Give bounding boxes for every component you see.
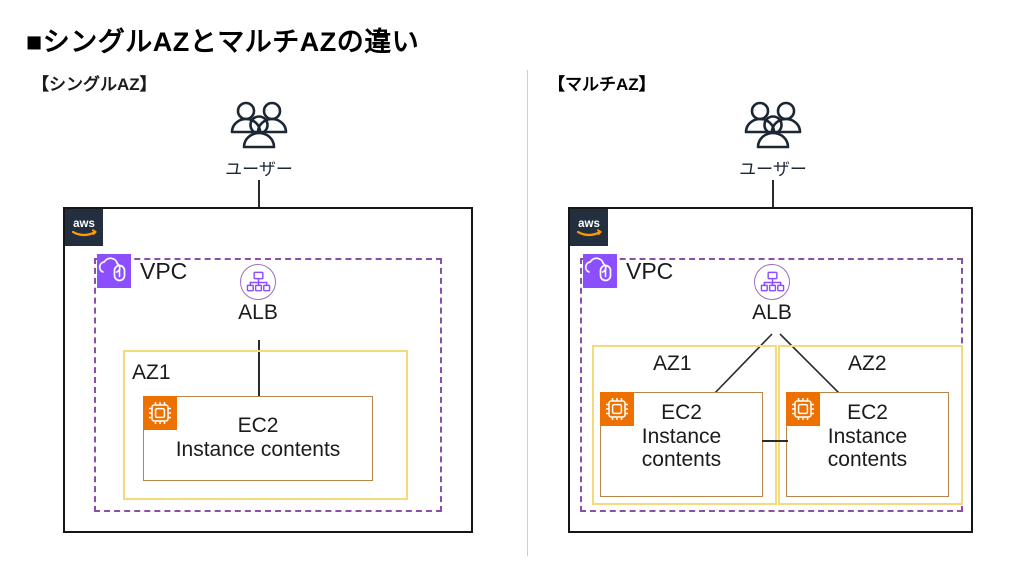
panel-heading-single-az: 【シングルAZ】 <box>32 70 157 95</box>
ec2-line3-right-az1: contents <box>601 448 762 472</box>
users-group-icon <box>228 100 290 154</box>
alb-group-left: ALB <box>218 264 298 325</box>
load-balancer-icon <box>760 270 785 295</box>
ec2-text-right-az1: EC2 Instance contents <box>601 401 762 472</box>
users-label-left: ユーザー <box>199 155 319 180</box>
connector-ec2-to-ec2-right <box>762 440 788 442</box>
panel-divider <box>527 70 528 556</box>
vpc-label-left: VPC <box>140 258 187 285</box>
users-label-right: ユーザー <box>713 155 833 180</box>
ec2-text-left: EC2 Instance contents <box>144 414 372 461</box>
page-title: ■シングルAZとマルチAZの違い <box>26 20 419 59</box>
ec2-line3-right-az2: contents <box>787 448 948 472</box>
vpc-icon <box>583 254 617 288</box>
vpc-label-group-right: VPC <box>583 254 673 288</box>
az-label-left-az1: AZ1 <box>132 361 171 385</box>
users-block-left: ユーザー <box>199 100 319 180</box>
ec2-subtitle-left: Instance contents <box>144 438 372 462</box>
panel-heading-multi-az: 【マルチAZ】 <box>548 70 656 95</box>
alb-icon-circle <box>240 264 276 300</box>
aws-logo: aws <box>570 209 608 246</box>
vpc-icon-glyph <box>583 254 617 288</box>
aws-logo: aws <box>65 209 103 246</box>
vpc-label-group-left: VPC <box>97 254 187 288</box>
ec2-text-right-az2: EC2 Instance contents <box>787 401 948 472</box>
alb-label-left: ALB <box>218 301 298 325</box>
az-label-right-az2: AZ2 <box>848 352 887 376</box>
vpc-label-right: VPC <box>626 258 673 285</box>
aws-logo-icon: aws <box>574 214 604 240</box>
ec2-line2-right-az2: Instance <box>787 425 948 449</box>
ec2-box-right-az2: EC2 Instance contents <box>786 392 949 497</box>
ec2-title-left: EC2 <box>144 414 372 438</box>
svg-text:aws: aws <box>578 218 600 230</box>
aws-logo-icon: aws <box>69 214 99 240</box>
users-group-icon <box>742 100 804 154</box>
vpc-icon <box>97 254 131 288</box>
vpc-icon-glyph <box>97 254 131 288</box>
ec2-title-right-az2: EC2 <box>787 401 948 425</box>
alb-icon-circle <box>754 264 790 300</box>
load-balancer-icon <box>246 270 271 295</box>
users-block-right: ユーザー <box>713 100 833 180</box>
ec2-line2-right-az1: Instance <box>601 425 762 449</box>
ec2-box-right-az1: EC2 Instance contents <box>600 392 763 497</box>
az-label-right-az1: AZ1 <box>653 352 692 376</box>
alb-group-right: ALB <box>732 264 812 325</box>
ec2-title-right-az1: EC2 <box>601 401 762 425</box>
ec2-box-left: EC2 Instance contents <box>143 396 373 481</box>
alb-label-right: ALB <box>732 301 812 325</box>
svg-text:aws: aws <box>73 218 95 230</box>
